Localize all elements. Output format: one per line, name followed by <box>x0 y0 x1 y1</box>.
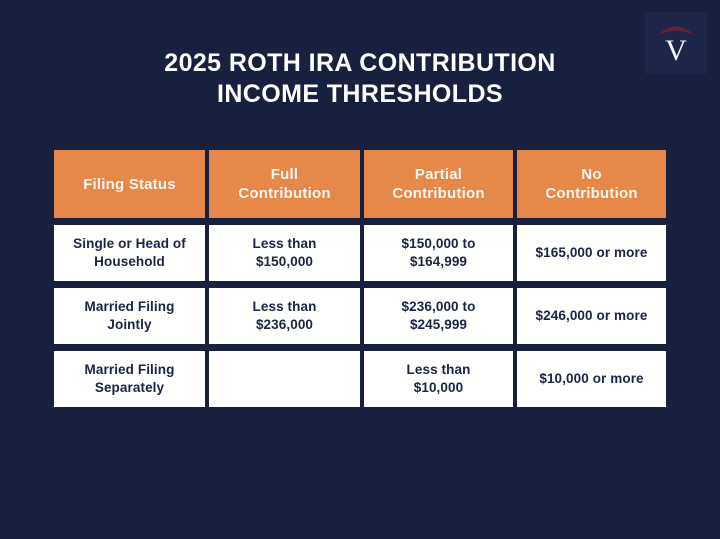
cell-partial-contribution: $236,000 to $245,999 <box>362 286 515 346</box>
table-header-row: Filing Status Full Contribution Partial … <box>52 148 668 220</box>
cell-filing-status-line-2: Jointly <box>85 316 175 334</box>
cell-partial-contribution: $150,000 to $164,999 <box>362 223 515 283</box>
cell-full-contribution: Less than $236,000 <box>207 286 362 346</box>
cell-filing-status: Single or Head of Household <box>52 223 207 283</box>
cell-partial-contribution: Less than $10,000 <box>362 349 515 409</box>
roth-ira-thresholds-table: Filing Status Full Contribution Partial … <box>52 148 668 409</box>
cell-partial-contribution-line-2: $10,000 <box>407 379 471 397</box>
cell-filing-status-line-2: Household <box>73 253 186 271</box>
column-header-full-contribution-line-2: Contribution <box>238 184 330 203</box>
cell-no-contribution-line-1: $165,000 or more <box>536 245 648 260</box>
cell-partial-contribution-line-1: Less than <box>407 362 471 377</box>
cell-partial-contribution-line-2: $245,999 <box>402 316 476 334</box>
column-header-partial-contribution-line-2: Contribution <box>392 184 484 203</box>
cell-full-contribution-line-2: $150,000 <box>253 253 317 271</box>
cell-no-contribution-line-1: $10,000 or more <box>539 371 643 386</box>
cell-no-contribution: $246,000 or more <box>515 286 668 346</box>
page-title: 2025 ROTH IRA CONTRIBUTION INCOME THRESH… <box>0 48 720 110</box>
table-row: Single or Head of Household Less than $1… <box>52 223 668 283</box>
cell-filing-status-line-1: Married Filing <box>85 299 175 314</box>
cell-full-contribution: Less than $150,000 <box>207 223 362 283</box>
column-header-full-contribution: Full Contribution <box>207 148 362 220</box>
column-header-partial-contribution: Partial Contribution <box>362 148 515 220</box>
cell-no-contribution-line-1: $246,000 or more <box>536 308 648 323</box>
page-title-line-2: INCOME THRESHOLDS <box>0 79 720 110</box>
cell-full-contribution-line-2: $236,000 <box>253 316 317 334</box>
column-header-partial-contribution-line-1: Partial <box>415 166 462 183</box>
table-row: Married Filing Jointly Less than $236,00… <box>52 286 668 346</box>
cell-partial-contribution-line-1: $150,000 to <box>402 236 476 251</box>
table-row: Married Filing Separately Less than $10,… <box>52 349 668 409</box>
cell-full-contribution-line-1: Less than <box>253 299 317 314</box>
cell-filing-status: Married Filing Separately <box>52 349 207 409</box>
cell-filing-status-line-1: Single or Head of <box>73 236 186 251</box>
column-header-no-contribution-line-2: Contribution <box>545 184 637 203</box>
cell-filing-status: Married Filing Jointly <box>52 286 207 346</box>
slide-canvas: V 2025 ROTH IRA CONTRIBUTION INCOME THRE… <box>0 0 720 539</box>
column-header-no-contribution: No Contribution <box>515 148 668 220</box>
column-header-full-contribution-line-1: Full <box>271 166 298 183</box>
cell-no-contribution: $10,000 or more <box>515 349 668 409</box>
cell-partial-contribution-line-2: $164,999 <box>402 253 476 271</box>
cell-filing-status-line-1: Married Filing <box>85 362 175 377</box>
cell-no-contribution: $165,000 or more <box>515 223 668 283</box>
column-header-no-contribution-line-1: No <box>581 166 601 183</box>
cell-partial-contribution-line-1: $236,000 to <box>402 299 476 314</box>
column-header-filing-status-line-1: Filing Status <box>83 176 176 193</box>
cell-filing-status-line-2: Separately <box>85 379 175 397</box>
cell-full-contribution <box>207 349 362 409</box>
column-header-filing-status: Filing Status <box>52 148 207 220</box>
page-title-line-1: 2025 ROTH IRA CONTRIBUTION <box>0 48 720 79</box>
cell-full-contribution-line-1: Less than <box>253 236 317 251</box>
